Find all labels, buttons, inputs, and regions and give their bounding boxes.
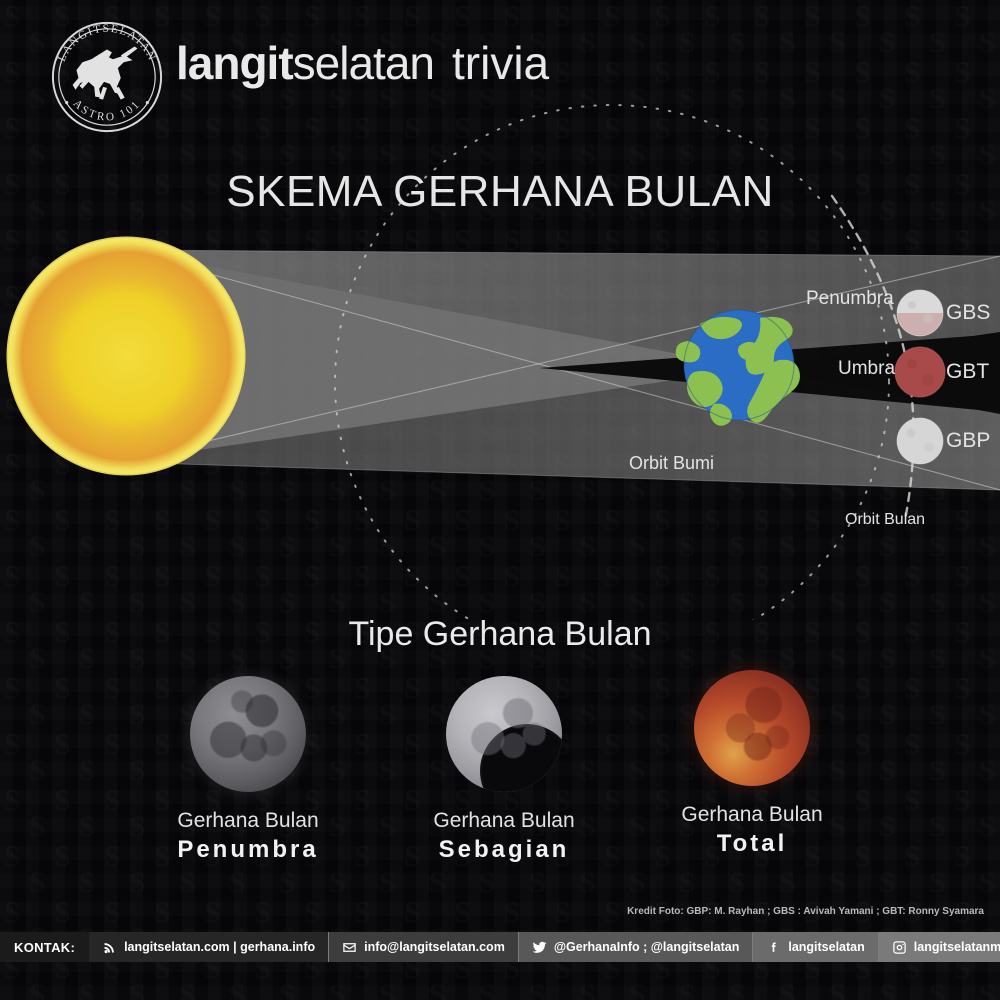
footer-item-website[interactable]: langitselatan.com | gerhana.info (89, 932, 328, 962)
footer-item-facebook[interactable]: langitselatan (752, 932, 877, 962)
section-title-tipe: Tipe Gerhana Bulan (0, 615, 1000, 654)
twitter-icon (532, 940, 547, 955)
label-gbp: GBP (946, 429, 990, 453)
card-line1: Gerhana Bulan (118, 808, 378, 835)
footer-item-label: @GerhanaInfo ; @langitselatan (554, 940, 740, 954)
rss-icon (102, 940, 117, 955)
total-moon-photo (694, 670, 810, 786)
photo-credit: Kredit Foto: GBP: M. Rayhan ; GBS : Aviv… (627, 906, 984, 917)
mail-icon (342, 940, 357, 955)
label-penumbra: Penumbra (806, 288, 894, 310)
partial-moon-photo (446, 676, 562, 792)
card-line1: Gerhana Bulan (622, 802, 882, 829)
footer-item-label: langitselatan.com | gerhana.info (124, 940, 315, 954)
footer-item-instagram[interactable]: langitselatanmedia (878, 932, 1000, 962)
eclipse-type-card-penumbra: Gerhana Bulan Penumbra (118, 676, 378, 866)
eclipse-type-card-total: Gerhana Bulan Total (622, 670, 882, 860)
footer-item-twitter[interactable]: @GerhanaInfo ; @langitselatan (518, 932, 753, 962)
footer-item-email[interactable]: info@langitselatan.com (328, 932, 518, 962)
instagram-icon (892, 940, 907, 955)
card-line1: Gerhana Bulan (374, 808, 634, 835)
label-orbit-bumi: Orbit Bumi (629, 453, 714, 474)
contact-footer: KONTAK: langitselatan.com | gerhana.info… (0, 932, 1000, 962)
card-line2: Sebagian (374, 835, 634, 866)
label-umbra: Umbra (838, 358, 895, 380)
infographic-page: S S LANGITSELATAN ASTRO 101 (0, 0, 1000, 1000)
eclipse-type-card-sebagian: Gerhana Bulan Sebagian (374, 676, 634, 866)
penumbral-moon-photo (190, 676, 306, 792)
kontak-label: KONTAK: (0, 932, 89, 962)
label-gbt: GBT (946, 360, 989, 384)
label-gbs: GBS (946, 301, 990, 325)
card-line2: Penumbra (118, 835, 378, 866)
footer-item-label: langitselatan (788, 940, 864, 954)
card-line2: Total (622, 829, 882, 860)
footer-item-label: langitselatanmedia (914, 940, 1000, 954)
umbral-shadow-bite (480, 724, 562, 792)
label-orbit-bulan: Orbit Bulan (845, 511, 925, 529)
footer-item-label: info@langitselatan.com (364, 940, 505, 954)
facebook-icon (766, 940, 781, 955)
eclipse-type-list: Gerhana Bulan Penumbra Gerhana Bulan Seb… (0, 660, 1000, 890)
